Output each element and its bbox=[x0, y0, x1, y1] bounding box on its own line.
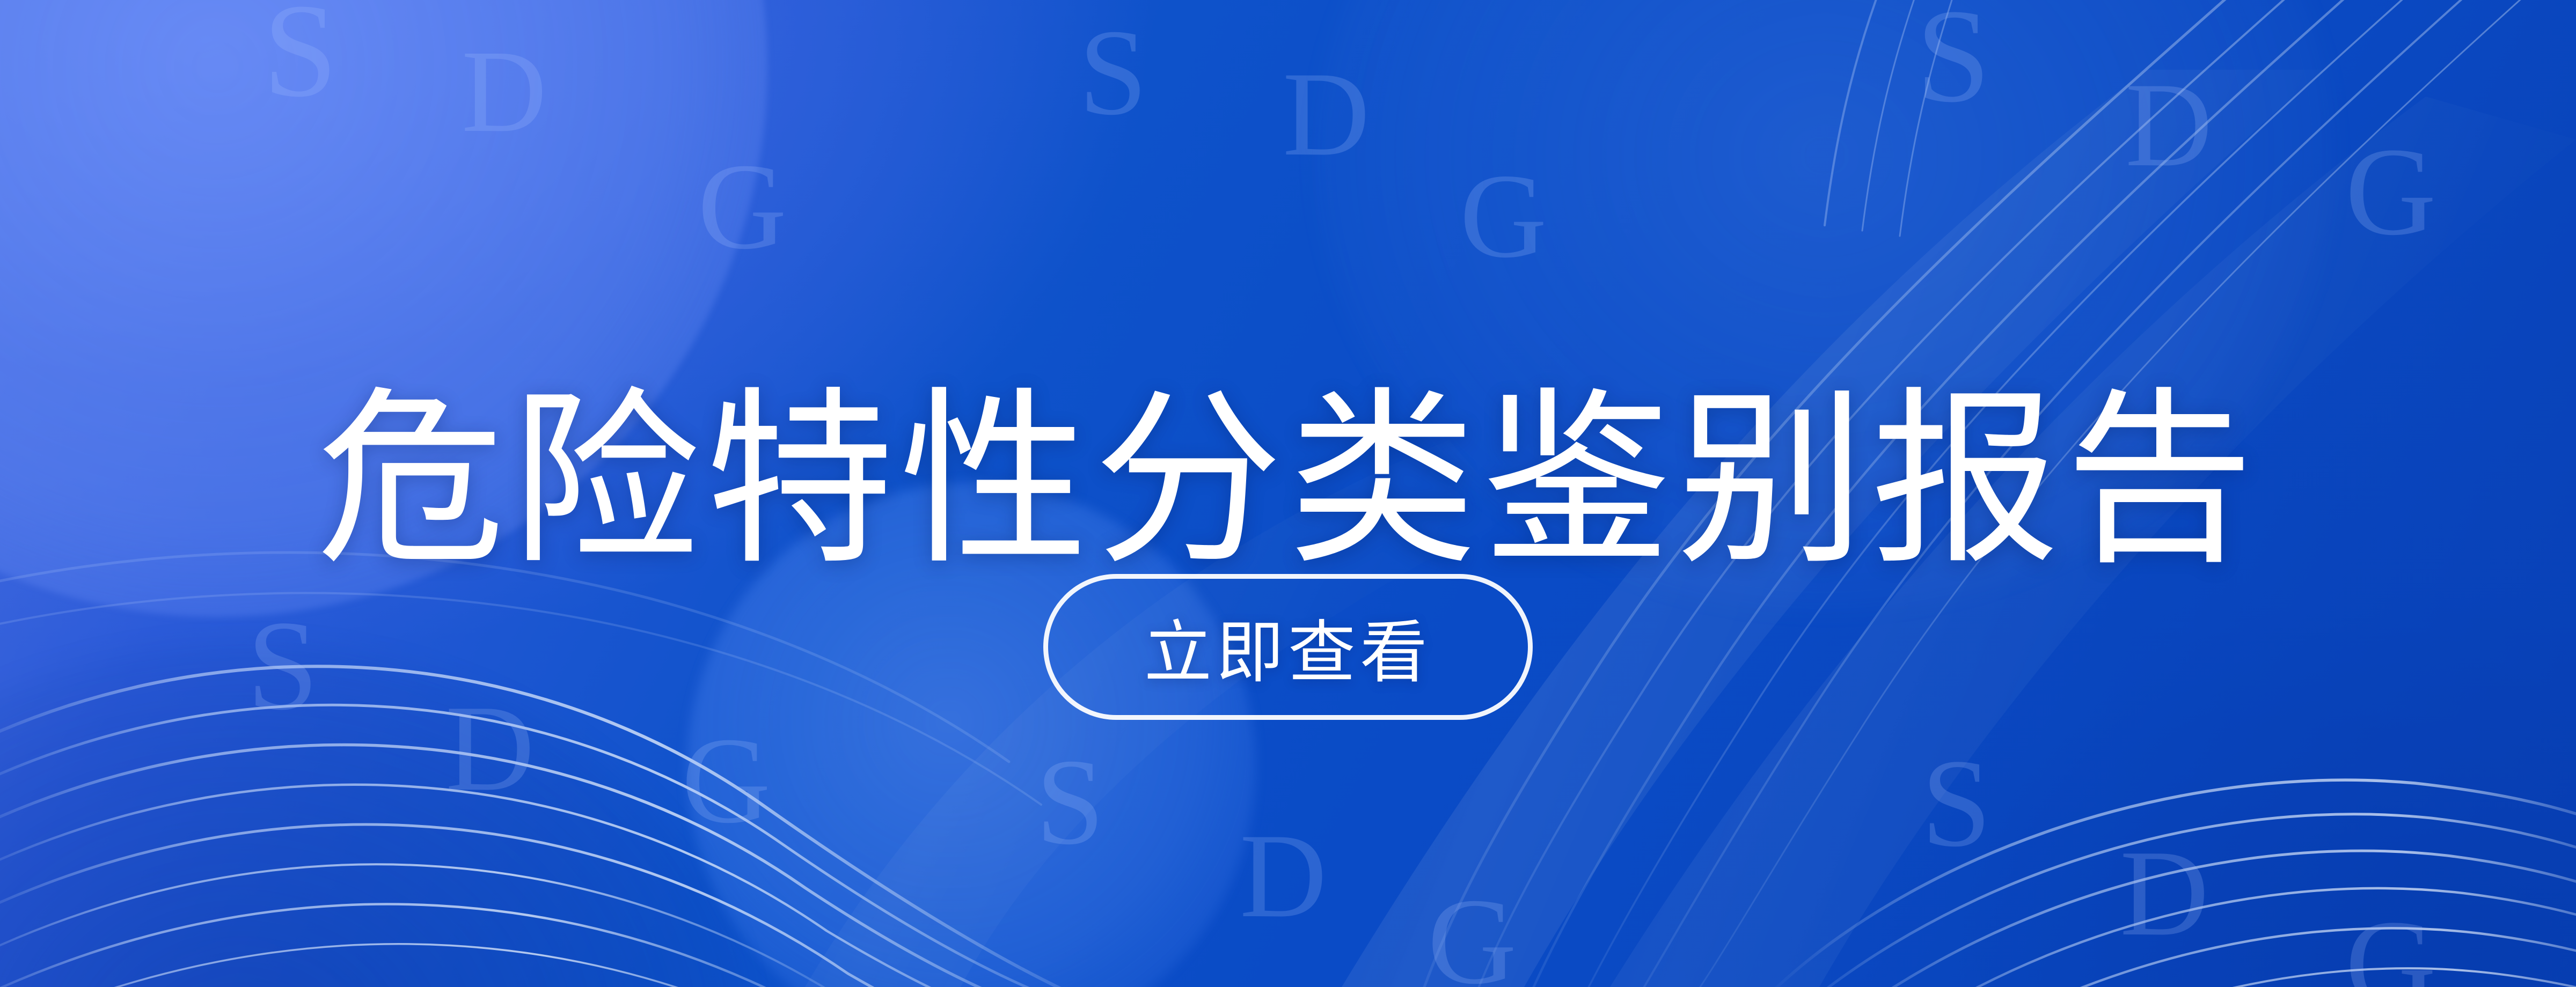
watermark-letter-d: D bbox=[2120, 831, 2209, 955]
page-title: 危险特性分类鉴别报告 bbox=[317, 379, 2259, 583]
watermark-letter-g: G bbox=[2345, 901, 2436, 987]
watermark-letter-d: D bbox=[1283, 54, 1370, 174]
watermark-letter-s: S bbox=[1036, 740, 1104, 864]
watermark-letter-s: S bbox=[1079, 11, 1147, 134]
view-now-button[interactable]: 立即查看 bbox=[1043, 574, 1533, 720]
watermark-letter-s: S bbox=[1916, 0, 1990, 123]
watermark-letter-g: G bbox=[1428, 880, 1517, 987]
watermark-letter-s: S bbox=[1921, 740, 1992, 866]
diagonal-streak-group-left bbox=[1825, 0, 1959, 236]
watermark-letter-d: D bbox=[462, 32, 547, 150]
cta-row: 立即查看 bbox=[0, 574, 2576, 720]
watermark-letter-d: D bbox=[1240, 815, 1327, 936]
promo-banner: SDGSDGSDGSDGSDGSDG 危险特性分类鉴别报告 立即查看 bbox=[0, 0, 2576, 987]
watermark-letter-d: D bbox=[2125, 64, 2213, 185]
watermark-letter-g: G bbox=[698, 145, 787, 268]
watermark-letter-g: G bbox=[682, 719, 771, 842]
arc-group-bottom-right bbox=[1760, 780, 2576, 987]
watermark-letter-g: G bbox=[2345, 129, 2436, 255]
watermark-letter-s: S bbox=[263, 0, 338, 118]
